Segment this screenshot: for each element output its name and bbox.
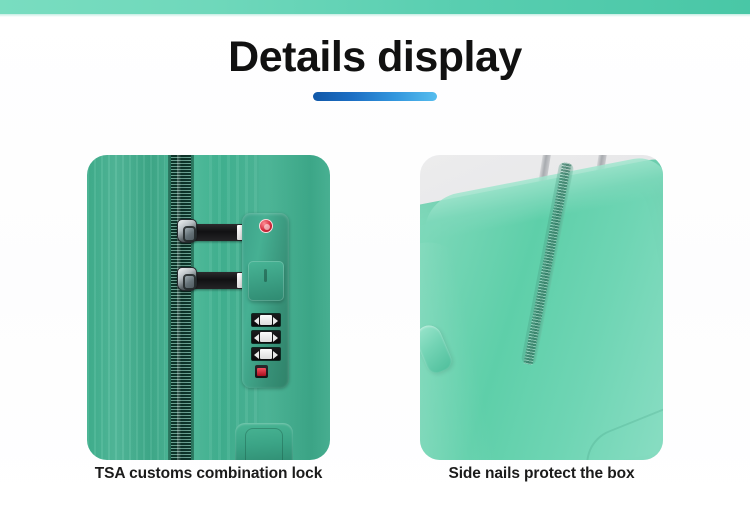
combination-dial-group — [251, 313, 281, 364]
combination-dial — [251, 330, 281, 344]
zipper-pull-icon — [177, 267, 197, 291]
page-header: Details display — [0, 14, 750, 101]
caption-tsa-lock: TSA customs combination lock — [87, 465, 330, 483]
dial-arrow-left-icon — [254, 334, 259, 342]
lock-latch-button — [248, 261, 284, 301]
tsa-red-badge-icon — [259, 219, 273, 233]
caption-row: TSA customs combination lock Side nails … — [0, 465, 750, 483]
zipper-track — [168, 155, 194, 460]
details-display-page: Details display — [0, 0, 750, 514]
dial-arrow-left-icon — [254, 351, 259, 359]
accent-bar-wrap — [0, 92, 750, 101]
top-gradient-band — [0, 0, 750, 14]
dial-window — [260, 332, 272, 342]
lock-release-button — [255, 365, 268, 378]
dial-arrow-right-icon — [273, 351, 278, 359]
combination-dial — [251, 313, 281, 327]
image-card-row — [0, 155, 750, 460]
image-card-side-nails[interactable] — [420, 155, 663, 460]
suitcase-side-grip — [235, 423, 293, 460]
combination-dial — [251, 347, 281, 361]
caption-side-nails: Side nails protect the box — [420, 465, 663, 483]
zipper-teeth — [171, 155, 191, 460]
dial-arrow-right-icon — [273, 334, 278, 342]
tsa-lock-housing — [242, 213, 289, 388]
title-accent-bar — [313, 92, 437, 101]
dial-arrow-left-icon — [254, 317, 259, 325]
dial-window — [260, 349, 272, 359]
page-title: Details display — [0, 34, 750, 80]
embossed-panel-line — [575, 376, 663, 460]
dial-arrow-right-icon — [273, 317, 278, 325]
zipper-pull-icon — [177, 219, 197, 243]
image-card-tsa-lock[interactable] — [87, 155, 330, 460]
zipper-shine — [177, 155, 181, 460]
shell-ribbing-left — [87, 155, 165, 460]
dial-window — [260, 315, 272, 325]
